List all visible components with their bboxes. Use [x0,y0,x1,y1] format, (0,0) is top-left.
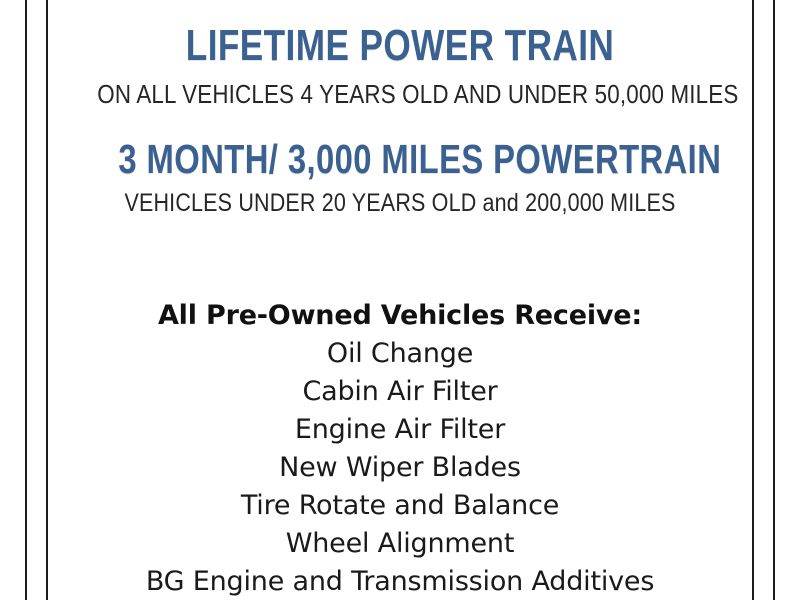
service-item-new-wiper-blades: New Wiper Blades [48,449,752,487]
flyer-content: LIFETIME POWER TRAIN ON ALL VEHICLES 4 Y… [48,0,752,600]
warranty-conditions-lifetime-powertrain: ON ALL VEHICLES 4 YEARS OLD AND UNDER 50… [97,81,702,107]
right-inner-rule [752,0,754,600]
warranty-conditions-3month-powertrain: VEHICLES UNDER 20 YEARS OLD and 200,000 … [97,191,702,216]
services-section: All Pre-Owned Vehicles Receive: Oil Chan… [48,297,752,600]
service-item-cabin-air-filter: Cabin Air Filter [48,373,752,411]
service-item-oil-change: Oil Change [48,335,752,373]
service-item-wheel-alignment: Wheel Alignment [48,525,752,563]
flyer-page: LIFETIME POWER TRAIN ON ALL VEHICLES 4 Y… [0,0,800,600]
service-item-tire-rotate-and-balance: Tire Rotate and Balance [48,487,752,525]
right-outer-rule [773,0,775,600]
service-item-bg-engine-and-transmission-additives: BG Engine and Transmission Additives [48,563,752,600]
left-outer-rule [25,0,27,600]
warranty-title-lifetime-powertrain: LIFETIME POWER TRAIN [118,24,681,68]
service-item-engine-air-filter: Engine Air Filter [48,411,752,449]
services-heading: All Pre-Owned Vehicles Receive: [48,297,752,335]
warranty-title-3month-powertrain: 3 MONTH/ 3,000 MILES POWERTRAIN [118,139,681,180]
